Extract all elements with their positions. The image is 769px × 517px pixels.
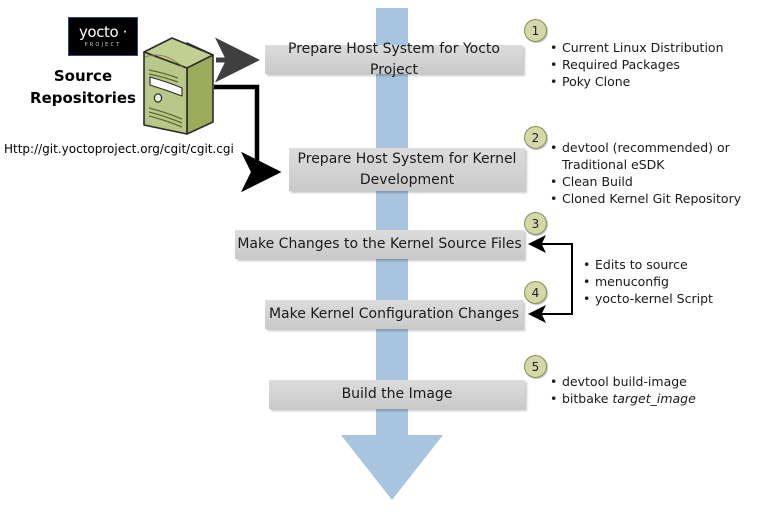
bracket-steps-3-4	[546, 244, 572, 314]
step-number-badge-5: 5	[524, 355, 547, 378]
arrow-source-to-step2	[214, 87, 277, 172]
process-box-make-kernel-source-changes[interactable]: Make Changes to the Kernel Source Files	[235, 230, 524, 259]
source-repositories-label-line1: Source	[18, 65, 148, 87]
list-item: devtool (recommended) or Traditional eSD…	[550, 139, 741, 173]
list-item: yocto-kernel Script	[583, 290, 713, 307]
list-item: Required Packages	[550, 56, 724, 73]
list-item: Poky Clone	[550, 73, 724, 90]
step-number-badge-1: 1	[524, 19, 547, 42]
yocto-logo-wordmark: yocto ·	[79, 25, 127, 40]
list-item: Clean Build	[550, 173, 741, 190]
list-item-line2: Traditional eSDK	[562, 156, 741, 173]
process-box-prepare-host-kernel[interactable]: Prepare Host System for Kernel Developme…	[289, 148, 525, 191]
process-box-label: Make Changes to the Kernel Source Files	[237, 234, 521, 255]
server-tower-icon	[134, 30, 216, 140]
source-repositories-label-line2: Repositories	[18, 87, 148, 109]
list-item-line1: devtool (recommended) or	[562, 140, 730, 155]
step-number-badge-2: 2	[524, 126, 547, 149]
process-box-label: Make Kernel Configuration Changes	[269, 304, 519, 325]
list-item-italic-target: target_image	[612, 391, 695, 406]
step2-bullet-list: devtool (recommended) or Traditional eSD…	[550, 139, 741, 207]
source-repositories-label: Source Repositories	[18, 65, 148, 109]
process-box-prepare-host-yocto[interactable]: Prepare Host System for Yocto Project	[265, 45, 523, 74]
list-item-prefix: bitbake	[562, 391, 612, 406]
process-box-label: Prepare Host System for Yocto Project	[265, 39, 523, 81]
process-box-make-kernel-config-changes[interactable]: Make Kernel Configuration Changes	[265, 300, 523, 329]
yocto-logo-subtext: PROJECT	[84, 41, 121, 49]
source-repositories-url: Http://git.yoctoproject.org/cgit/cgit.cg…	[4, 142, 234, 156]
process-box-label-line1: Prepare Host System for Kernel	[298, 151, 517, 167]
step-number-badge-3: 3	[524, 212, 547, 235]
list-item: Current Linux Distribution	[550, 39, 724, 56]
steps-3-4-bullet-list: Edits to source menuconfig yocto-kernel …	[583, 256, 713, 307]
yocto-project-logo: yocto · PROJECT	[68, 17, 138, 56]
diagram-canvas: yocto · PROJECT Source Repositories Http…	[0, 0, 769, 517]
step-number-badge-4: 4	[524, 281, 547, 304]
main-flow-arrow-head	[341, 435, 443, 500]
process-box-build-the-image[interactable]: Build the Image	[269, 380, 525, 409]
process-box-label: Build the Image	[342, 384, 453, 405]
list-item: Cloned Kernel Git Repository	[550, 190, 741, 207]
process-box-label: Prepare Host System for Kernel Developme…	[298, 149, 517, 191]
list-item: menuconfig	[583, 273, 713, 290]
list-item: devtool build-image	[550, 373, 696, 390]
step5-bullet-list: devtool build-image bitbake target_image	[550, 373, 696, 407]
step1-bullet-list: Current Linux Distribution Required Pack…	[550, 39, 724, 90]
list-item: bitbake target_image	[550, 390, 696, 407]
process-box-label-line2: Development	[360, 172, 454, 188]
list-item: Edits to source	[583, 256, 713, 273]
